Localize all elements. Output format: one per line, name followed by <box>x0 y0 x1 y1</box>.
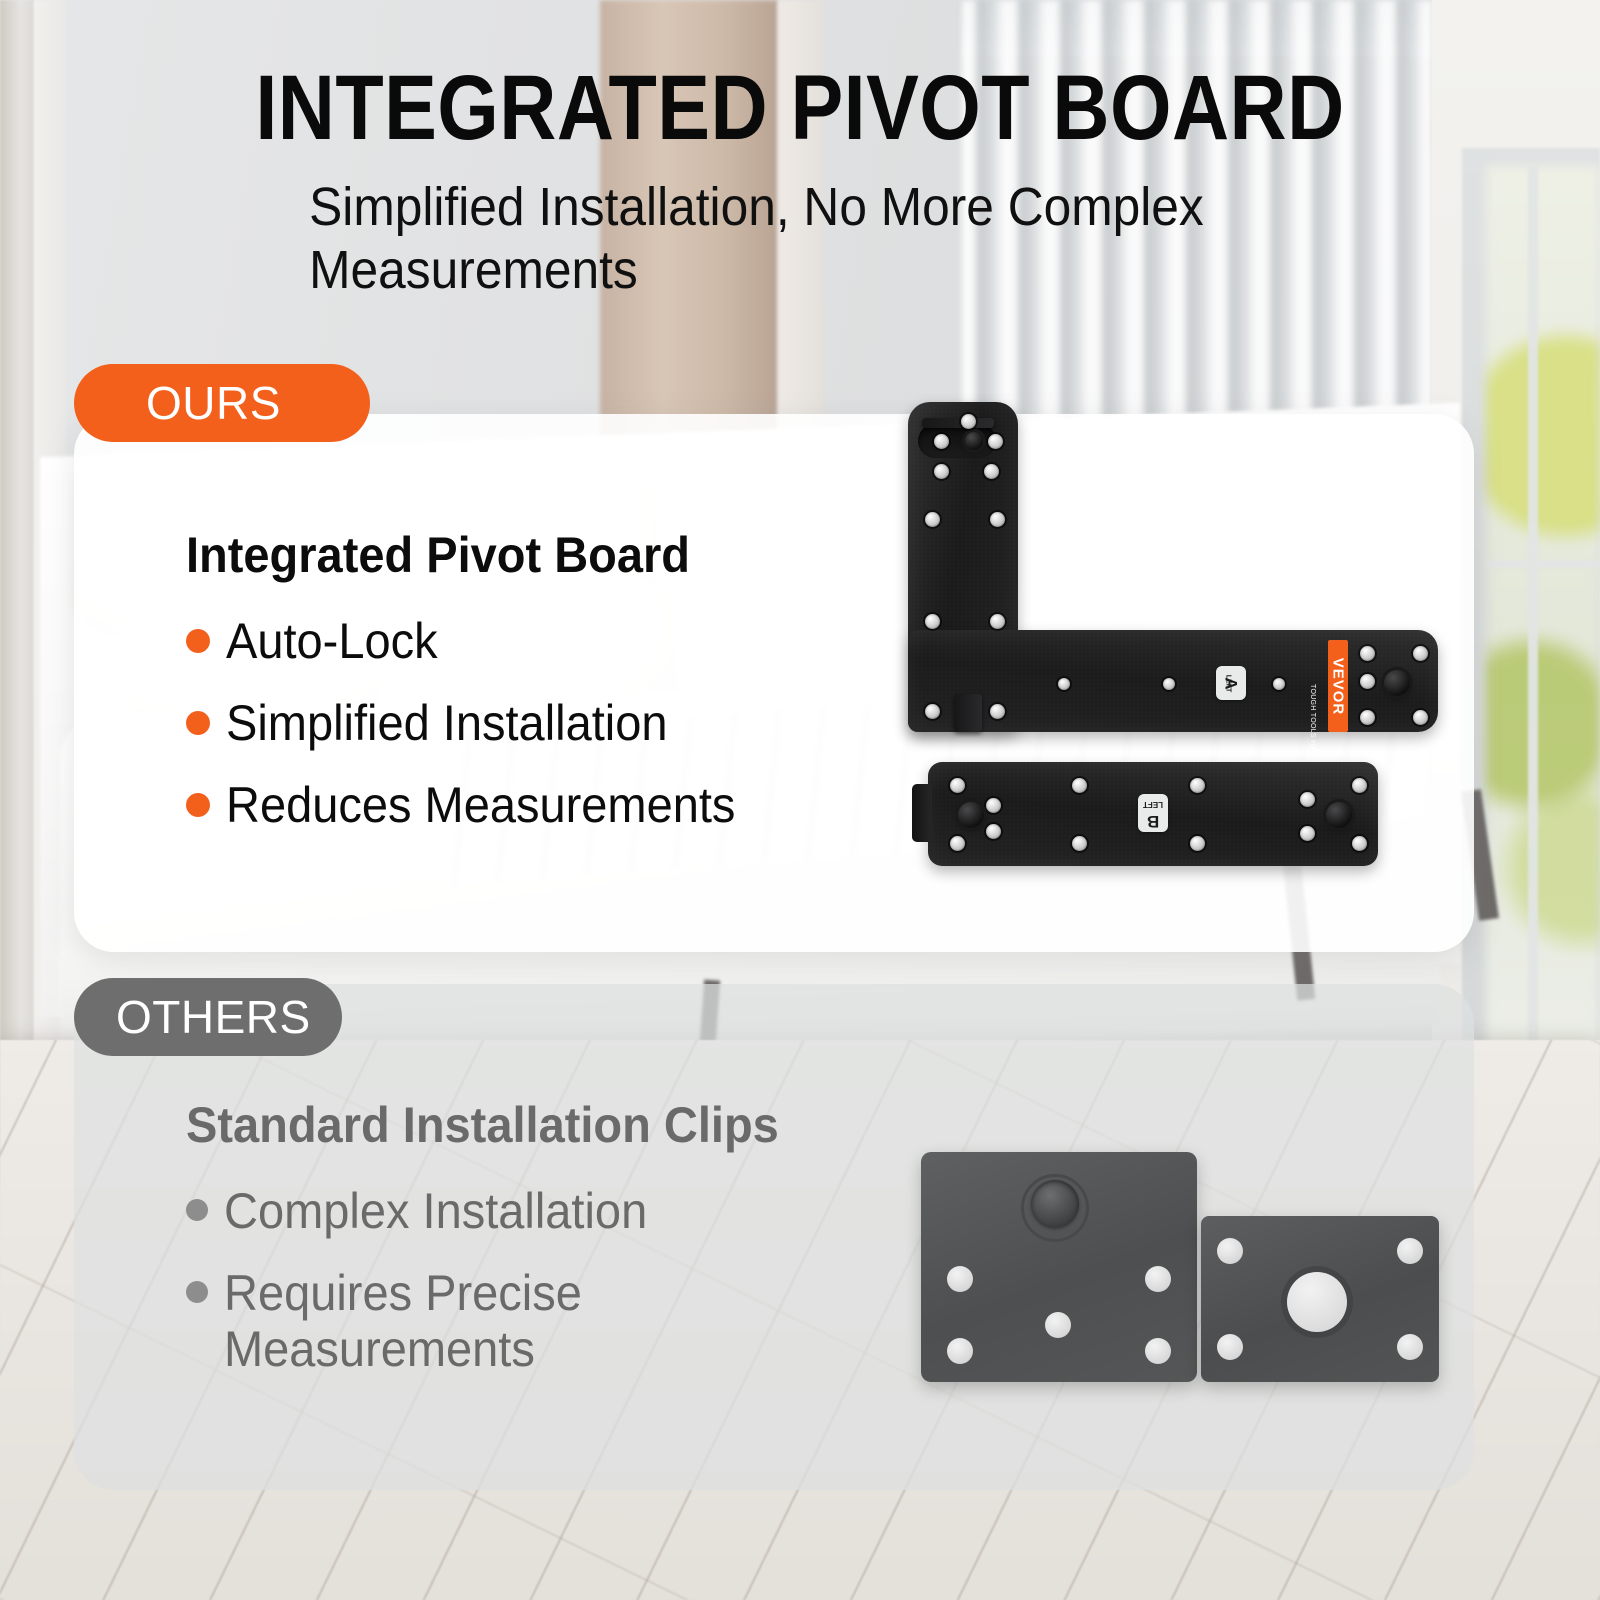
clip-pin-boss <box>1031 1180 1079 1228</box>
window-mullion-horizontal <box>1486 560 1600 568</box>
product-pivot-board-b: B LEFT <box>928 762 1378 866</box>
ours-bullet-2: Simplified Installation <box>226 695 668 751</box>
pivot-slot-top <box>918 424 996 458</box>
vevor-brand-label: VEVOR <box>1328 640 1348 732</box>
mount-hole <box>1352 836 1367 851</box>
ours-bullet-3: Reduces Measurements <box>226 777 735 833</box>
list-item: Simplified Installation <box>186 695 886 751</box>
mount-hole <box>1058 678 1070 690</box>
pivot-pin-top <box>965 432 983 450</box>
bullet-dot-icon <box>186 793 210 817</box>
sticker-side-b: LEFT <box>1143 800 1163 808</box>
vevor-brand-text: VEVOR <box>1330 657 1347 715</box>
latch-bottom <box>954 694 982 732</box>
plate-hole <box>1045 1312 1071 1338</box>
mount-hole <box>950 778 965 793</box>
plate-center-hole <box>1287 1272 1347 1332</box>
bullet-dot-icon <box>186 1199 208 1221</box>
mount-hole <box>990 614 1005 629</box>
mount-hole <box>1190 778 1205 793</box>
bullet-dot-icon <box>186 629 210 653</box>
ours-content: Integrated Pivot Board Auto-Lock Simplif… <box>186 528 886 859</box>
mount-hole <box>986 798 1001 813</box>
plate-hole <box>947 1338 973 1364</box>
label-sticker-b: B LEFT <box>1138 794 1168 832</box>
sticker-letter-b: B <box>1147 813 1159 830</box>
mount-hole <box>1300 826 1315 841</box>
mount-hole <box>1352 778 1367 793</box>
mount-hole <box>1163 678 1175 690</box>
bullet-dot-icon <box>186 711 210 735</box>
mount-hole <box>1360 646 1375 661</box>
mount-hole <box>1360 710 1375 725</box>
mount-hole <box>990 704 1005 719</box>
others-bullet-2: Requires Precise Measurements <box>224 1265 628 1377</box>
plate-hole <box>1217 1238 1243 1264</box>
others-badge-label: OTHERS <box>116 990 311 1044</box>
mount-hole <box>1300 792 1315 807</box>
standard-clip-rect-plate <box>1201 1216 1439 1382</box>
mount-hole <box>1072 778 1087 793</box>
ours-badge-label: OURS <box>146 376 281 430</box>
list-item: Requires Precise Measurements <box>186 1265 946 1377</box>
mount-hole <box>986 824 1001 839</box>
mount-hole <box>1413 710 1428 725</box>
others-bullet-1: Complex Installation <box>224 1183 647 1239</box>
mount-hole <box>925 614 940 629</box>
label-sticker-a: A LEFT <box>1216 666 1246 700</box>
bullet-dot-icon <box>186 1281 208 1303</box>
plate-hole <box>947 1266 973 1292</box>
mount-hole <box>984 464 999 479</box>
mount-hole <box>990 512 1005 527</box>
pivot-pin-right <box>1384 670 1410 696</box>
others-badge: OTHERS <box>74 978 342 1056</box>
plate-hole <box>1397 1238 1423 1264</box>
product-pivot-board-a: A LEFT VEVOR TOUGH TOOLS HALF PRICE <box>908 402 1438 732</box>
pivot-bar-tab <box>912 784 932 842</box>
ours-bullet-1: Auto-Lock <box>226 613 438 669</box>
mount-hole <box>950 836 965 851</box>
mount-hole <box>1360 674 1375 689</box>
pivot-pin-left <box>958 802 984 828</box>
standard-clip-square-plate <box>921 1152 1197 1382</box>
others-bullet-list: Complex Installation Requires Precise Me… <box>186 1183 946 1377</box>
others-heading: Standard Installation Clips <box>186 1098 900 1153</box>
list-item: Auto-Lock <box>186 613 886 669</box>
plate-hole <box>1397 1334 1423 1360</box>
mount-hole <box>934 434 949 449</box>
page-title: INTEGRATED PIVOT BOARD <box>112 62 1488 154</box>
list-item: Reduces Measurements <box>186 777 886 833</box>
mount-hole <box>1413 646 1428 661</box>
ours-badge: OURS <box>74 364 370 442</box>
mount-hole <box>1190 836 1205 851</box>
list-item: Complex Installation <box>186 1183 946 1239</box>
sticker-side-a: LEFT <box>1224 674 1231 692</box>
others-content: Standard Installation Clips Complex Inst… <box>186 1098 946 1403</box>
mount-hole <box>934 464 949 479</box>
ours-bullet-list: Auto-Lock Simplified Installation Reduce… <box>186 613 886 833</box>
plate-hole <box>1145 1266 1171 1292</box>
mount-hole <box>988 434 1003 449</box>
plate-hole <box>1145 1338 1171 1364</box>
mount-hole <box>961 414 976 429</box>
plate-hole <box>1217 1334 1243 1360</box>
mount-hole <box>1072 836 1087 851</box>
pivot-pin-right <box>1326 802 1352 828</box>
mount-hole <box>925 704 940 719</box>
latch-top <box>922 418 994 428</box>
header: INTEGRATED PIVOT BOARD Simplified Instal… <box>0 62 1600 302</box>
mount-hole <box>925 512 940 527</box>
page-subtitle: Simplified Installation, No More Complex… <box>265 176 1249 302</box>
mount-hole <box>1273 678 1285 690</box>
ours-heading: Integrated Pivot Board <box>186 528 844 583</box>
